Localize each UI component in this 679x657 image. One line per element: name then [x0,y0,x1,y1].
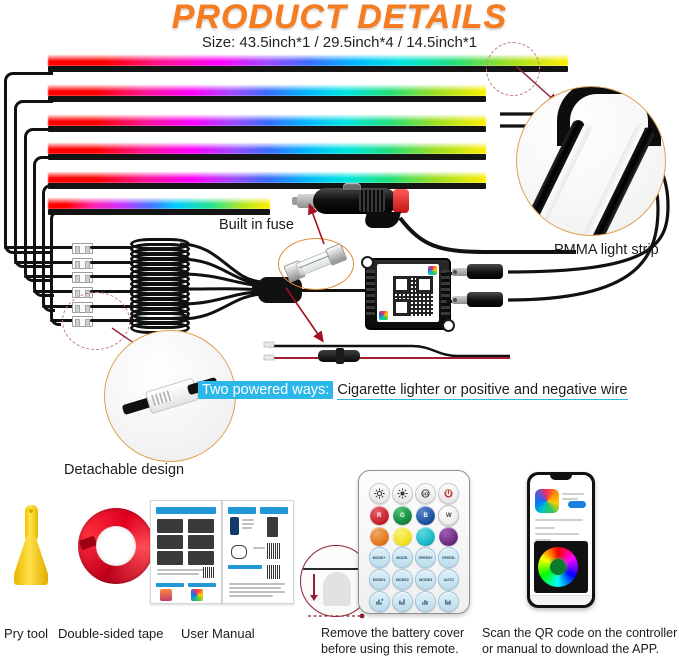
harness-wire [90,275,132,278]
manual-diagram [231,545,247,559]
manual-text-line [242,519,254,521]
harness-wire [90,246,132,249]
battery-dotted-leader [306,612,366,626]
remote-button-cyan[interactable] [416,527,435,546]
tape-edge [79,536,97,551]
battery-caption: Remove the battery cover before using th… [321,626,464,657]
manual-text-line [229,591,285,593]
remote-button-purple[interactable] [439,527,458,546]
manual-text-line [253,547,265,549]
pull-down-arrow-icon [313,574,315,596]
remote-button-orange[interactable] [370,527,389,546]
remote-button-white[interactable]: W [438,505,459,526]
remote-button-label: R [377,513,381,519]
pmma-detail-circle [516,86,666,236]
strip-base [48,126,486,132]
strip-glow [48,198,270,209]
manual-subheader [228,565,262,569]
remote-button-auto[interactable]: AUTO [438,569,459,590]
detachable-label: Detachable design [64,462,184,478]
controller-label [377,264,439,322]
controller-mount-ear-bottom [442,319,455,332]
battery-caption-line2: before using this remote. [321,642,464,657]
manual-image [157,535,183,549]
app-get-button[interactable] [568,501,586,508]
page-title: PRODUCT DETAILS [0,0,679,37]
remote-button-off[interactable]: OFF [415,483,436,504]
brightness-down-icon [397,488,408,499]
app-developer-text [562,498,578,500]
manual-image [188,519,214,533]
controller-fins-left [366,270,375,316]
strip-glow [48,172,486,183]
strip-glow [48,143,486,154]
ir-remote-control[interactable]: OFF R G B W MODE+ [358,470,470,614]
remote-button-label: MODE+ [373,556,386,560]
manual-text-line [157,569,205,571]
remote-button-brightness-down[interactable] [392,483,413,504]
strip-base [48,183,486,189]
double-sided-tape-label: Double-sided tape [58,626,164,641]
remote-button-red[interactable]: R [370,506,389,525]
remote-button-speed-down[interactable]: SPEED- [438,547,459,568]
phone-notch [550,475,572,480]
powered-ways-highlight: Two powered ways: [198,381,333,399]
remote-button-yellow[interactable] [393,527,412,546]
plug-red-cap [393,189,409,213]
remote-button-music-4[interactable] [438,591,459,612]
pry-tool [14,505,48,585]
powered-ways-text: Cigarette lighter or positive and negati… [337,382,627,400]
remote-button-label: W [446,513,452,519]
phone-tab-bar [530,595,592,605]
controller-brand-text [379,278,387,314]
manual-subheader [188,583,216,587]
fuse-arrow-up [300,200,344,246]
remote-button-mode2[interactable]: MODE2 [392,569,413,590]
manual-subheader [156,583,184,587]
plug-grip [363,212,401,228]
manual-text-line [229,587,281,589]
remote-button-label: MODE3 [419,578,432,582]
music-2-icon [397,596,408,607]
battery-caption-line1: Remove the battery cover [321,626,464,642]
remote-button-mode-down[interactable]: MODE- [392,547,413,568]
controller-fins-right [441,270,450,316]
remote-button-label: SPEED- [442,556,455,560]
strip-base [48,209,270,215]
positive-negative-wire [262,336,512,374]
manual-phone-image [160,589,172,601]
qr-caption: Scan the QR code on the controller or ma… [482,626,677,657]
pmma-label: PMMA light strip [554,242,659,258]
remote-button-music-1[interactable] [369,591,390,612]
manual-text-line [242,523,254,525]
app-store-icon [535,489,559,513]
manual-image [188,535,214,549]
brightness-up-icon [374,488,385,499]
remote-button-label: AUTO [444,578,454,582]
remote-button-mode1[interactable]: MODE1 [369,569,390,590]
off-icon: OFF [420,488,431,499]
remote-button-label: G [400,513,405,519]
qr-finder [393,299,410,316]
remote-button-label: MODE2 [396,578,409,582]
remote-button-brightness-up[interactable] [369,483,390,504]
remote-button-blue[interactable]: B [416,506,435,525]
smartphone-app-store [527,472,595,608]
manual-image [157,551,183,565]
light-strip-4 [48,143,486,160]
strip-glow [48,115,486,126]
led-controller-box [365,258,451,330]
pry-tool-hole [29,509,33,513]
manual-text-line [242,527,252,529]
manual-image [267,517,278,537]
battery-cover-tab [323,572,351,606]
manual-header-bar [228,507,256,514]
remote-button-grid: OFF R G B W MODE+ [368,483,460,603]
music-3-icon [420,596,431,607]
strip-glow [48,85,486,96]
qr-code [393,276,433,316]
strip-base [48,96,486,102]
light-strip-3 [48,115,486,132]
svg-text:OFF: OFF [422,491,431,496]
qr-caption-line1: Scan the QR code on the controller [482,626,677,642]
strip-base [48,154,486,160]
inline-fuse-collar [336,348,344,364]
user-manual-page-1 [150,500,222,604]
qr-finder [416,276,433,293]
whats-new-heading [535,527,555,529]
manual-qr [203,567,214,578]
controller-mount-ear-top [361,256,374,269]
plug-button [343,183,361,190]
manual-text-line [229,583,285,585]
plug-rings [359,190,385,212]
qr-caption-line2: or manual to download the APP. [482,642,677,657]
manual-image [157,519,183,533]
dc-barrel [467,292,503,307]
remote-button-power[interactable] [438,483,459,504]
strip-lead-6 [50,210,61,326]
light-strip-5 [48,172,486,189]
app-rating-text [535,519,583,521]
pmma-strip-black [516,118,587,236]
harness-wire [90,261,132,264]
remote-button-label: MODE1 [373,578,386,582]
manual-phone-image [191,589,203,601]
user-manual-label: User Manual [181,626,255,641]
harness-wire [14,261,80,264]
powered-ways-line: Two powered ways:Cigarette lighter or po… [198,381,628,399]
remote-button-speed-up[interactable]: SPEED+ [415,547,436,568]
manual-header-bar [260,507,288,514]
manual-image [188,551,214,565]
remote-button-label: SPEED+ [418,556,432,560]
qr-finder [393,276,410,293]
music-4-icon [443,596,454,607]
product-details-infographic: PRODUCT DETAILS PRODUCT DETAILS Size: 43… [0,0,679,657]
harness-wire [4,246,80,249]
manual-qr [267,543,281,559]
remote-button-label: MODE- [396,556,408,560]
manual-qr [267,565,281,579]
whats-new-text [535,533,579,535]
light-strip-2 [48,85,486,102]
built-in-fuse-label: Built in fuse [219,217,294,233]
manual-text-line [157,573,199,575]
remote-button-mode3[interactable]: MODE3 [415,569,436,590]
pry-tool-blade [14,535,48,585]
power-icon [443,488,454,499]
manual-phone-image [230,517,239,535]
app-name-text [562,493,584,495]
remote-button-mode-up[interactable]: MODE+ [369,547,390,568]
app-icon [428,266,437,275]
remote-button-label: B [423,513,427,519]
remote-button-music-2[interactable] [392,591,413,612]
phone-screen [530,475,592,605]
light-strip-6 [48,198,270,215]
remote-button-music-3[interactable] [415,591,436,612]
pry-tool-label: Pry tool [4,626,48,641]
double-sided-tape [78,508,154,584]
user-manual-page-2 [222,500,294,604]
remote-button-green[interactable]: G [393,506,412,525]
manual-header-bar [156,507,216,514]
color-wheel-preview [538,547,578,587]
manual-text-line [229,595,273,597]
dc-barrel [467,264,503,279]
music-1-icon [374,596,385,607]
